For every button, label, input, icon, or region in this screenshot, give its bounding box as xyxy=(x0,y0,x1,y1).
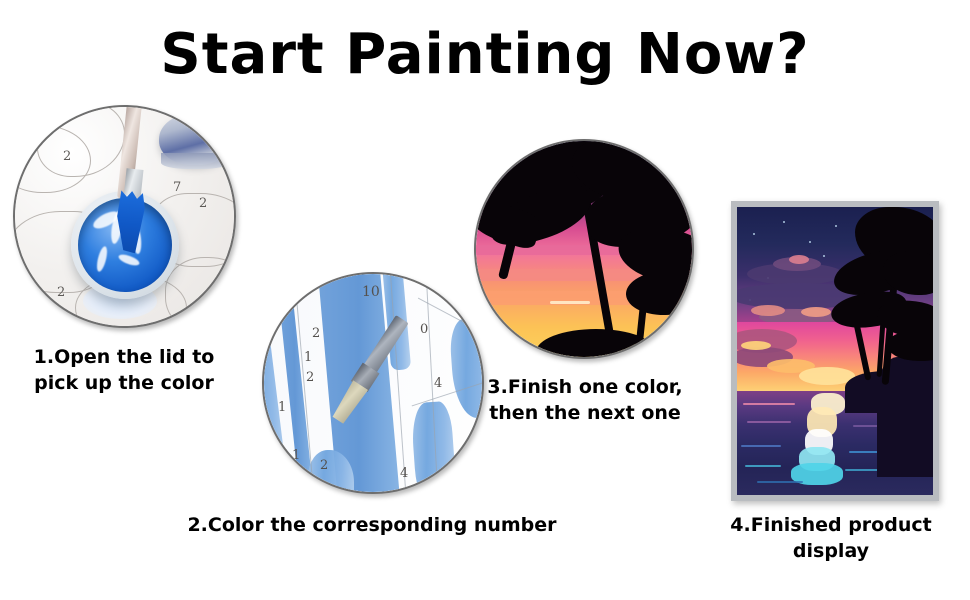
step-2-image: 10 2 1 2 1 1 2 0 4 4 xyxy=(262,272,484,494)
paint-highlight xyxy=(95,245,109,272)
step-1-caption: 1.Open the lid to pick up the color xyxy=(0,344,248,396)
sunset-palms-photo xyxy=(476,141,692,357)
canvas-number: 4 xyxy=(400,466,408,481)
star xyxy=(823,255,825,257)
canvas-number: 1 xyxy=(278,400,286,415)
sun-reflection-streak xyxy=(550,301,590,304)
step-4-image-frame xyxy=(731,201,939,501)
step-3-image xyxy=(474,139,694,359)
paint-pot-lid-band xyxy=(161,153,229,169)
step-3-caption: 3.Finish one color, then the next one xyxy=(470,374,700,426)
step-1-image: 2 7 2 2 xyxy=(13,105,236,328)
cloud-highlight xyxy=(801,307,831,317)
wave xyxy=(745,465,781,467)
canvas-number: 2 xyxy=(199,196,207,211)
canvas-number: 2 xyxy=(320,458,328,473)
canvas-number: 2 xyxy=(312,326,320,341)
wave xyxy=(741,445,781,447)
canvas-outline xyxy=(165,257,234,326)
wave xyxy=(757,481,803,483)
canvas-number: 2 xyxy=(63,149,71,164)
cloud-highlight xyxy=(741,341,771,350)
wave xyxy=(743,403,795,405)
star xyxy=(753,233,755,235)
page-title: Start Painting Now? xyxy=(0,22,970,87)
cloud-highlight xyxy=(751,305,785,316)
canvas-number: 1 xyxy=(292,448,300,463)
step-4-caption: 4.Finished product display xyxy=(700,512,962,564)
painted-canvas-photo: 10 2 1 2 1 1 2 0 4 4 xyxy=(264,274,482,492)
star xyxy=(809,241,811,243)
canvas-number: 0 xyxy=(420,322,428,337)
step-2-caption: 2.Color the corresponding number xyxy=(168,512,576,538)
canvas-number: 1 xyxy=(304,350,312,365)
wave xyxy=(747,421,791,423)
finished-painting-frame xyxy=(737,207,933,495)
canvas-number: 2 xyxy=(306,370,314,385)
paint-highlight xyxy=(117,252,140,267)
star xyxy=(835,225,837,227)
canvas-number: 4 xyxy=(434,376,442,391)
cloud-highlight xyxy=(789,255,809,264)
canvas-number: 2 xyxy=(57,285,65,300)
star xyxy=(783,221,785,223)
paint-pot-photo: 2 7 2 2 xyxy=(15,107,234,326)
canvas-number: 10 xyxy=(362,284,380,300)
canvas-number: 7 xyxy=(173,180,181,195)
